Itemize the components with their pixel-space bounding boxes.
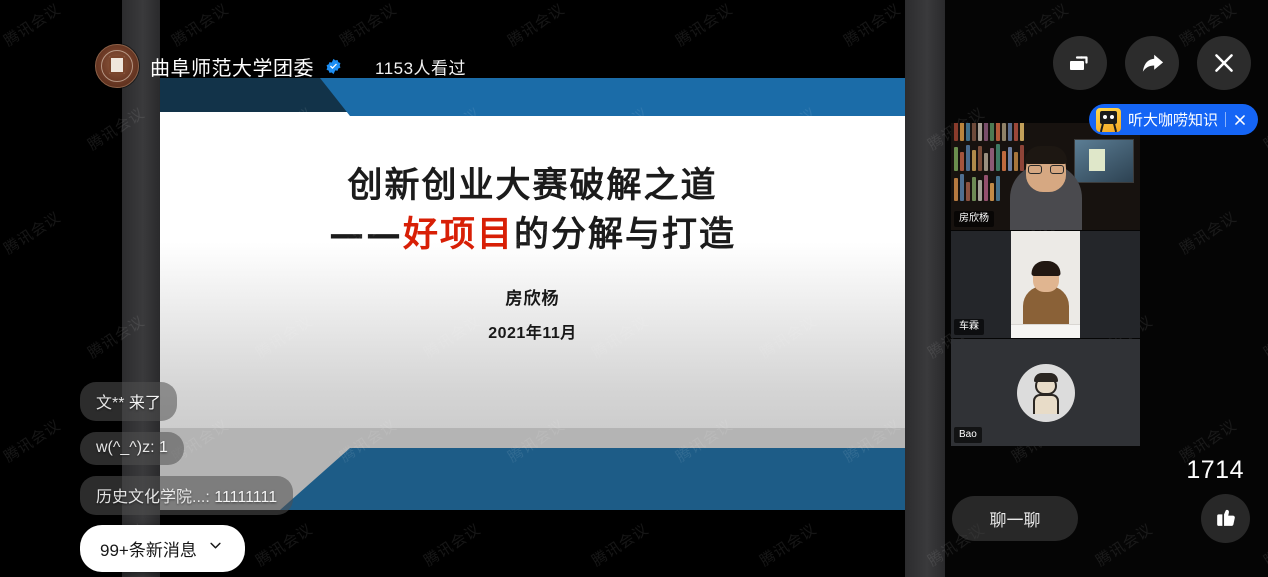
top-controls <box>1053 36 1251 90</box>
participant-tile[interactable]: 车霖 <box>951 231 1140 338</box>
open-chat-button[interactable]: 聊一聊 <box>952 496 1078 541</box>
like-button[interactable] <box>1201 494 1250 543</box>
slide-title-dash: —— <box>329 215 403 255</box>
rotate-screen-icon <box>1067 50 1093 76</box>
channel-header[interactable]: 曲阜师范大学团委 1153人看过 <box>95 44 466 88</box>
viewer-count: 1153人看过 <box>375 54 466 79</box>
chat-message: w(^_^)z: 1 <box>80 432 184 465</box>
chat-text: 来了 <box>129 395 161 412</box>
channel-name: 曲阜师范大学团委 <box>150 52 314 81</box>
participant-name-label: 车霖 <box>954 319 984 336</box>
slide-date: 2021年11月 <box>488 319 577 343</box>
participant-name-label: Bao <box>954 427 982 444</box>
rotate-screen-button[interactable] <box>1053 36 1107 90</box>
participant-tile[interactable]: 房欣杨 <box>951 123 1140 230</box>
chat-text: 1 <box>159 439 168 456</box>
share-button[interactable] <box>1125 36 1179 90</box>
chat-message: 历史文化学院...: 11111111 <box>80 476 293 515</box>
verified-badge-icon <box>325 58 342 75</box>
avatar <box>1017 364 1075 422</box>
stage-right-letterbox <box>905 0 945 577</box>
thumbs-up-icon <box>1213 504 1238 534</box>
promo-banner-text: 听大咖唠知识 <box>1128 109 1218 130</box>
promo-banner[interactable]: 听大咖唠知识 <box>1089 104 1258 135</box>
like-count: 1714 <box>1186 456 1244 485</box>
chat-sender: 文** <box>96 395 124 412</box>
chat-sender: 历史文化学院...: <box>96 489 210 506</box>
tencent-classroom-logo-icon <box>1096 108 1121 132</box>
slide-author: 房欣杨 <box>506 284 560 309</box>
slide-title-suffix: 的分解与打造 <box>514 215 736 255</box>
banner-close-icon[interactable] <box>1233 113 1247 127</box>
slide-title-line1: 创新创业大赛破解之道 <box>347 164 717 209</box>
close-icon <box>1211 50 1237 76</box>
new-messages-button[interactable]: 99+条新消息 <box>80 525 245 572</box>
participant-hair <box>1031 261 1060 276</box>
participant-hair <box>1025 146 1067 164</box>
chat-text: 11111111 <box>214 489 277 506</box>
slide-title-line2: ——好项目的分解与打造 <box>329 213 736 258</box>
chat-message: 文** 来了 <box>80 382 177 421</box>
share-icon <box>1139 50 1166 77</box>
live-stream-screen: 创新创业大赛破解之道 ——好项目的分解与打造 房欣杨 2021年11月 腾讯会议… <box>0 0 1268 577</box>
participant-tile[interactable]: Bao <box>951 339 1140 446</box>
university-seal-icon <box>95 44 139 88</box>
slide-content: 创新创业大赛破解之道 ——好项目的分解与打造 房欣杨 2021年11月 <box>160 112 905 428</box>
open-chat-label: 聊一聊 <box>990 506 1041 531</box>
new-messages-label: 99+条新消息 <box>100 536 197 561</box>
slide-title-highlight: 好项目 <box>403 215 514 255</box>
chat-overlay: 文** 来了 w(^_^)z: 1 历史文化学院...: 11111111 <box>80 382 293 515</box>
chevron-double-down-icon <box>206 539 225 559</box>
close-button[interactable] <box>1197 36 1251 90</box>
glasses-icon <box>1028 165 1064 174</box>
participant-tiles: 房欣杨 车霖 Bao <box>951 123 1140 446</box>
chat-sender: w(^_^)z: <box>96 439 155 456</box>
participant-name-label: 房欣杨 <box>954 211 994 228</box>
banner-divider <box>1225 112 1226 127</box>
background-monitor <box>1074 139 1134 183</box>
